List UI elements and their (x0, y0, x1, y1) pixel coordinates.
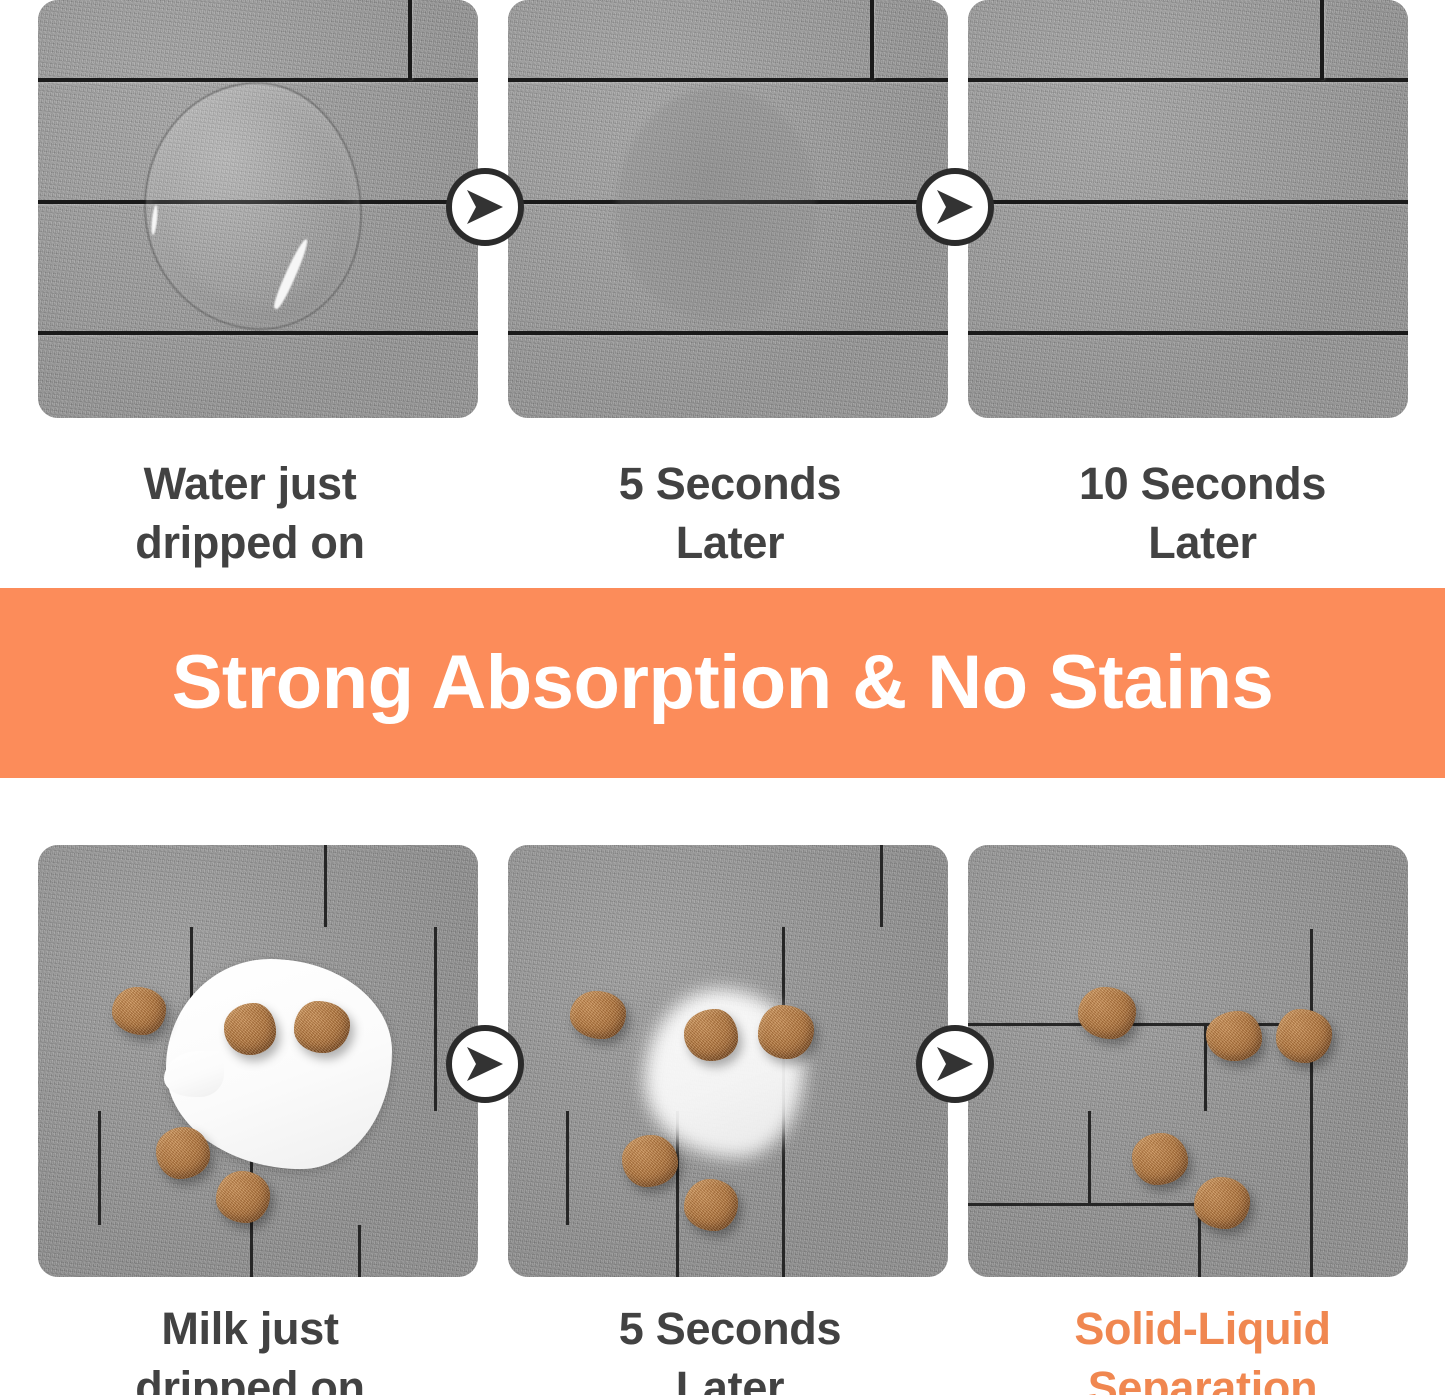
caption-solid-liquid-separation: Solid-Liquid Separation (960, 1300, 1445, 1395)
grout-line-h3 (38, 331, 478, 335)
mat-panel-water-10-seconds (968, 0, 1408, 418)
kibble-piece (1194, 1177, 1250, 1229)
kibble-piece (684, 1179, 738, 1231)
grout-line-v1 (1320, 0, 1324, 80)
water-droplet (146, 84, 360, 328)
caption-line-1: Water just (0, 455, 500, 514)
kibble-piece (1132, 1133, 1188, 1185)
caption-line-1: Solid-Liquid (960, 1300, 1445, 1359)
bottom-panel-row (0, 845, 1445, 1280)
grout-line-v2 (324, 845, 327, 927)
grout-line-v5 (1310, 1111, 1313, 1277)
caption-line-2: dripped on (0, 514, 500, 573)
mat-panel-milk-just-dripped (38, 845, 478, 1277)
caption-line-1: 5 Seconds (500, 1300, 960, 1359)
caption-line-2: Later (960, 514, 1445, 573)
chevron-right-icon (933, 187, 977, 227)
bottom-caption-row: Milk just dripped on 5 Seconds Later Sol… (0, 1300, 1445, 1395)
grout-line-v1 (408, 0, 412, 80)
chevron-right-icon (463, 187, 507, 227)
next-step-arrow-3 (446, 1025, 524, 1103)
mat-panel-milk-solid-liquid-separation (968, 845, 1408, 1277)
grout-line-v3 (1088, 1111, 1091, 1203)
grout-line-v2 (880, 845, 883, 927)
grout-line-h1 (38, 78, 478, 82)
grout-line-v1 (870, 0, 874, 80)
mat-panel-water-5-seconds (508, 0, 948, 418)
caption-line-2: Later (500, 1359, 960, 1395)
caption-milk-just-dripped: Milk just dripped on (0, 1300, 500, 1395)
caption-line-2: Separation (960, 1359, 1445, 1395)
panel-cell-milk-5-seconds (500, 845, 960, 1280)
grout-line-v6 (358, 1225, 361, 1277)
caption-line-1: Milk just (0, 1300, 500, 1359)
headline-banner: Strong Absorption & No Stains (0, 588, 1445, 778)
kibble-piece (156, 1127, 210, 1179)
next-step-arrow-2 (916, 168, 994, 246)
caption-water-5-seconds: 5 Seconds Later (500, 455, 960, 580)
grout-line-h1 (968, 78, 1408, 82)
grout-line-h2 (968, 1023, 1326, 1026)
infographic-page: Water just dripped on 5 Seconds Later 10… (0, 0, 1445, 1395)
headline-banner-text: Strong Absorption & No Stains (172, 645, 1274, 721)
kibble-piece (1078, 987, 1136, 1039)
caption-line-2: dripped on (0, 1359, 500, 1395)
grout-line-v5 (782, 1111, 785, 1277)
caption-water-10-seconds: 10 Seconds Later (960, 455, 1445, 580)
caption-line-1: 5 Seconds (500, 455, 960, 514)
chevron-right-icon (933, 1044, 977, 1084)
kibble-piece (112, 987, 166, 1035)
grout-line-v4 (98, 1111, 101, 1225)
kibble-piece (224, 1003, 276, 1055)
grout-line-v3 (566, 1111, 569, 1225)
top-caption-row: Water just dripped on 5 Seconds Later 10… (0, 455, 1445, 580)
kibble-piece (622, 1135, 678, 1187)
panel-cell-milk-solid-liquid-separation (960, 845, 1445, 1280)
caption-line-1: 10 Seconds (960, 455, 1445, 514)
absorbed-damp-mark (616, 88, 816, 322)
grout-line-h4 (968, 1203, 1198, 1206)
chevron-right-icon (463, 1044, 507, 1084)
grout-line-h1 (508, 78, 948, 82)
mat-panel-water-just-dripped (38, 0, 478, 418)
top-panel-row (0, 0, 1445, 420)
caption-line-2: Later (500, 514, 960, 573)
mat-panel-milk-5-seconds (508, 845, 948, 1277)
panel-cell-water-5-seconds (500, 0, 960, 420)
caption-water-just-dripped: Water just dripped on (0, 455, 500, 580)
panel-cell-water-just-dripped (0, 0, 500, 420)
grout-line-v3 (434, 927, 437, 1111)
next-step-arrow-4 (916, 1025, 994, 1103)
panel-cell-milk-just-dripped (0, 845, 500, 1280)
grout-line-h2 (968, 200, 1408, 204)
mat-texture (968, 845, 1408, 1277)
next-step-arrow-1 (446, 168, 524, 246)
kibble-piece (684, 1009, 738, 1061)
panel-cell-water-10-seconds (960, 0, 1445, 420)
kibble-piece (1206, 1011, 1262, 1061)
grout-line-h3 (968, 331, 1408, 335)
kibble-piece (570, 991, 626, 1039)
mat-texture (968, 0, 1408, 418)
kibble-piece (216, 1171, 270, 1223)
grout-line-h3 (508, 331, 948, 335)
caption-milk-5-seconds: 5 Seconds Later (500, 1300, 960, 1395)
